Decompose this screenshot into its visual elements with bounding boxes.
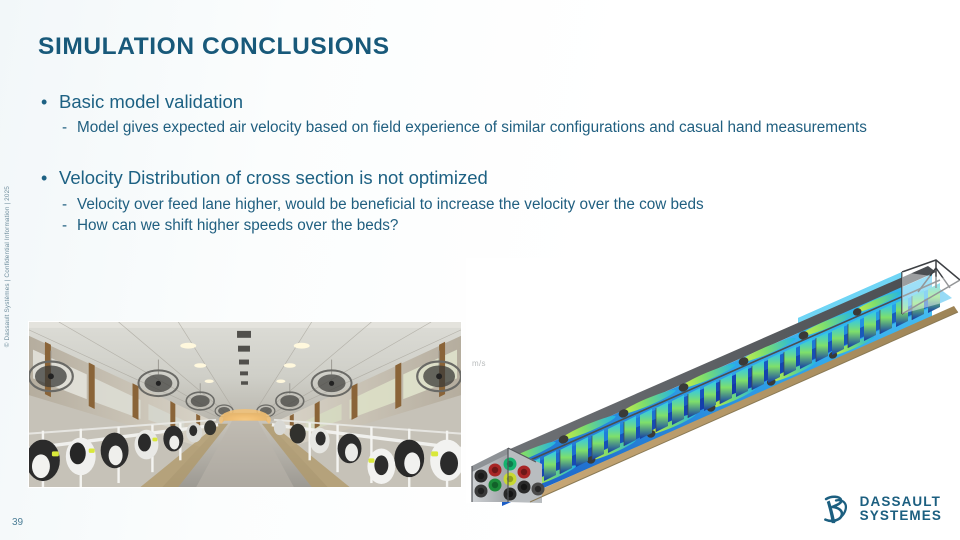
- sub-bullet-2-1: - Velocity over feed lane higher, would …: [36, 195, 916, 215]
- page-title: SIMULATION CONCLUSIONS: [38, 33, 390, 61]
- bullet-heading-2-label: Velocity Distribution of cross section i…: [59, 167, 488, 188]
- dash-bullet-icon: -: [62, 195, 67, 215]
- barn-photo-graphic: [29, 322, 461, 487]
- bullet-heading-1: • Basic model validation: [36, 90, 916, 113]
- dash-bullet-icon: -: [62, 216, 67, 236]
- barn-interior-photo: [28, 321, 462, 488]
- dassault-systemes-logo: DASSAULT SYSTEMES: [819, 492, 942, 526]
- sub-bullet-2-2-label: How can we shift higher speeds over the …: [77, 217, 398, 234]
- sub-bullet-2-1-label: Velocity over feed lane higher, would be…: [77, 196, 704, 213]
- sub-bullet-group-1: - Model gives expected air velocity base…: [36, 118, 916, 138]
- bullet-heading-1-label: Basic model validation: [59, 91, 243, 112]
- slide-canvas: SIMULATION CONCLUSIONS © Dassault Systèm…: [0, 0, 960, 540]
- logo-line-2: SYSTEMES: [860, 509, 942, 523]
- section-spacer: [36, 139, 916, 166]
- sub-bullet-1-1: - Model gives expected air velocity base…: [36, 118, 916, 138]
- sub-bullet-group-2: - Velocity over feed lane higher, would …: [36, 195, 916, 237]
- cfd-legend-label: m/s: [472, 359, 486, 368]
- bullet-dot-icon: •: [41, 167, 47, 190]
- page-number: 39: [12, 517, 23, 528]
- logo-wordmark: DASSAULT SYSTEMES: [860, 495, 942, 523]
- bullet-heading-2: • Velocity Distribution of cross section…: [36, 166, 916, 189]
- cfd-graphic: [466, 258, 960, 503]
- dash-bullet-icon: -: [62, 118, 67, 138]
- sub-bullet-1-1-label: Model gives expected air velocity based …: [77, 119, 867, 136]
- cfd-velocity-render: [466, 258, 960, 503]
- logo-line-1: DASSAULT: [860, 495, 942, 509]
- confidential-notice: © Dassault Systèmes | Confidential Infor…: [4, 186, 11, 347]
- bullet-dot-icon: •: [41, 91, 47, 114]
- 3ds-compass-icon: [819, 492, 853, 526]
- sub-bullet-2-2: - How can we shift higher speeds over th…: [36, 216, 916, 236]
- slide-body: • Basic model validation - Model gives e…: [36, 90, 916, 237]
